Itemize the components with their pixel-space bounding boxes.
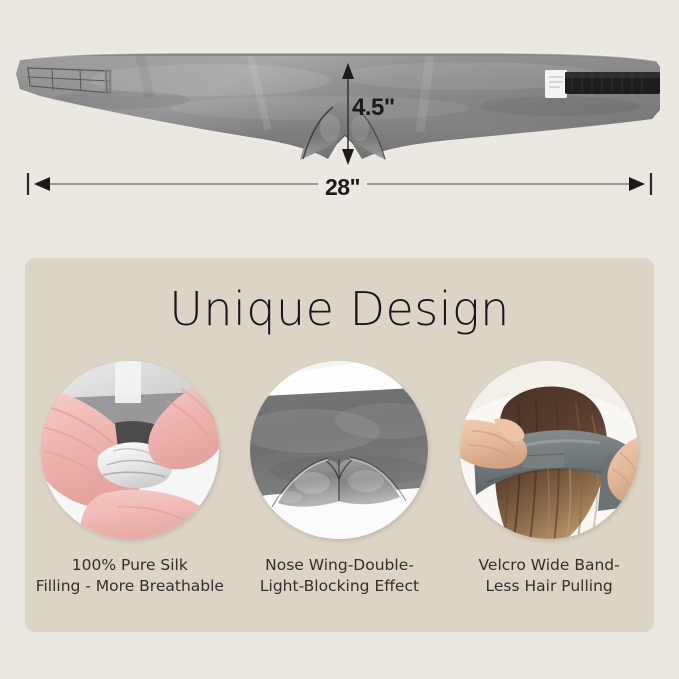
care-label xyxy=(545,70,567,98)
width-dimension-label: 28" xyxy=(318,174,367,201)
height-dimension-label: 4.5" xyxy=(352,94,395,122)
hands-holding-silk-filling-photo xyxy=(41,361,219,539)
feature-list: 100% Pure Silk Filling - More Breathable xyxy=(25,361,654,596)
feature-caption: Nose Wing-Double- Light-Blocking Effect xyxy=(260,555,419,596)
velcro-band-on-head-photo xyxy=(460,361,638,539)
feature-item-velcro-band: Velcro Wide Band- Less Hair Pulling xyxy=(451,361,647,596)
feature-caption-line1: Nose Wing-Double- xyxy=(260,555,419,576)
nose-wing-closeup-photo xyxy=(250,361,428,539)
feature-caption-line1: Velcro Wide Band- xyxy=(479,555,620,576)
feature-item-silk-filling: 100% Pure Silk Filling - More Breathable xyxy=(32,361,228,596)
feature-caption-line1: 100% Pure Silk xyxy=(36,555,224,576)
product-dimension-section: 4.5" 28" xyxy=(0,0,679,258)
feature-caption: Velcro Wide Band- Less Hair Pulling xyxy=(479,555,620,596)
panel-title: Unique Design xyxy=(25,282,654,336)
feature-caption-line2: Less Hair Pulling xyxy=(479,576,620,597)
velcro-strap xyxy=(565,72,660,94)
feature-item-nose-wing: Nose Wing-Double- Light-Blocking Effect xyxy=(241,361,437,596)
feature-caption-line2: Filling - More Breathable xyxy=(36,576,224,597)
unique-design-panel: Unique Design xyxy=(25,258,654,632)
feature-caption: 100% Pure Silk Filling - More Breathable xyxy=(36,555,224,596)
feature-caption-line2: Light-Blocking Effect xyxy=(260,576,419,597)
